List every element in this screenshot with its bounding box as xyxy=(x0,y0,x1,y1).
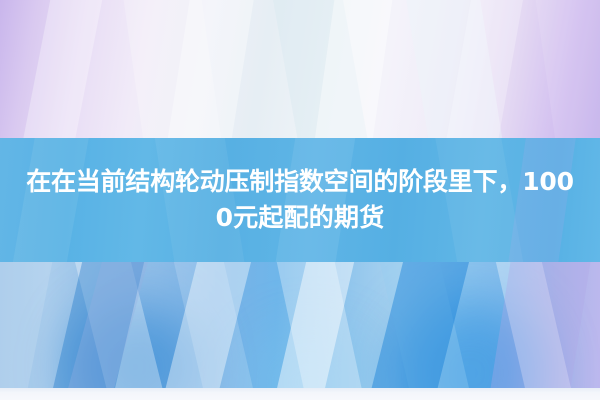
decorative-facet xyxy=(303,0,398,138)
bottom-gradient-panel xyxy=(0,262,600,390)
decorative-facet xyxy=(118,0,233,138)
bottom-facet-group xyxy=(0,262,600,390)
decorative-facet xyxy=(530,0,600,138)
decorative-facet xyxy=(0,262,64,390)
decorative-facet xyxy=(7,0,110,138)
decorative-facet xyxy=(432,0,530,138)
center-watermark xyxy=(282,377,316,391)
corner-watermark xyxy=(556,366,578,378)
decorative-facet xyxy=(0,0,116,138)
top-gradient-panel xyxy=(0,0,600,138)
decorative-facet xyxy=(479,262,600,390)
caption-line-1: 在在当前结构轮动压制指数空间的阶段里下，100 xyxy=(26,164,574,200)
banner-image: 在在当前结构轮动压制指数空间的阶段里下，100 0元起配的期货 xyxy=(0,0,600,400)
decorative-facet xyxy=(266,0,382,138)
caption-line-2: 0元起配的期货 xyxy=(216,200,385,236)
decorative-facet xyxy=(400,0,515,138)
caption-text-block: 在在当前结构轮动压制指数空间的阶段里下，100 0元起配的期货 xyxy=(0,138,600,262)
decorative-facet xyxy=(155,0,260,138)
